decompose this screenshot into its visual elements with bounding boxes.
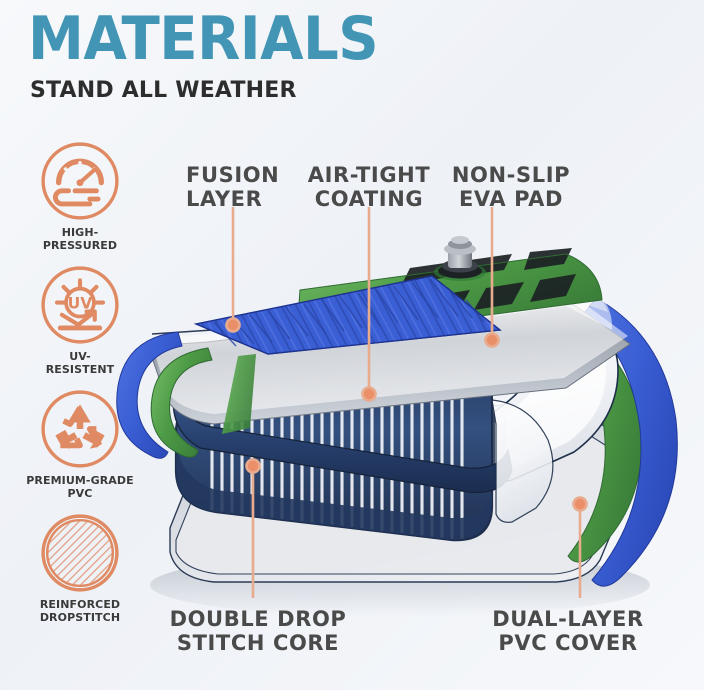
dropstitch-hatch-icon: [39, 512, 121, 594]
air-valve: [434, 236, 486, 281]
feature-high-pressured: HIGH- PRESSURED: [26, 140, 134, 252]
pressure-gauge-icon: [39, 140, 121, 222]
callout-dual-layer-pvc-cover: DUAL-LAYER PVC COVER: [480, 607, 656, 655]
feature-reinforced-dropstitch: REINFORCED DROPSTITCH: [26, 512, 134, 624]
header: MATERIALS STAND ALL WEATHER: [28, 8, 365, 104]
callout-non-slip-eva-pad: NON-SLIP EVA PAD: [440, 163, 582, 211]
feature-uv-resistent: UV UV- RESISTENT: [26, 264, 134, 376]
uv-shield-icon: UV: [39, 264, 121, 346]
feature-label: HIGH- PRESSURED: [26, 227, 134, 252]
feature-label: PREMIUM-GRADE PVC: [26, 475, 134, 500]
feature-label: REINFORCED DROPSTITCH: [26, 599, 134, 624]
page-title: MATERIALS: [28, 8, 378, 70]
feature-premium-grade-pvc: PREMIUM-GRADE PVC: [26, 388, 134, 500]
feature-label: UV- RESISTENT: [26, 351, 134, 376]
callout-double-drop-stitch-core: DOUBLE DROP STITCH CORE: [168, 607, 348, 655]
page-subtitle: STAND ALL WEATHER: [30, 78, 365, 104]
callout-fusion-layer: FUSION LAYER: [186, 163, 286, 211]
recycle-icon: [39, 388, 121, 470]
feature-icon-rail: HIGH- PRESSURED UV UV- RESISTENT: [26, 140, 134, 636]
callout-air-tight-coating: AIR-TIGHT COATING: [297, 163, 441, 211]
